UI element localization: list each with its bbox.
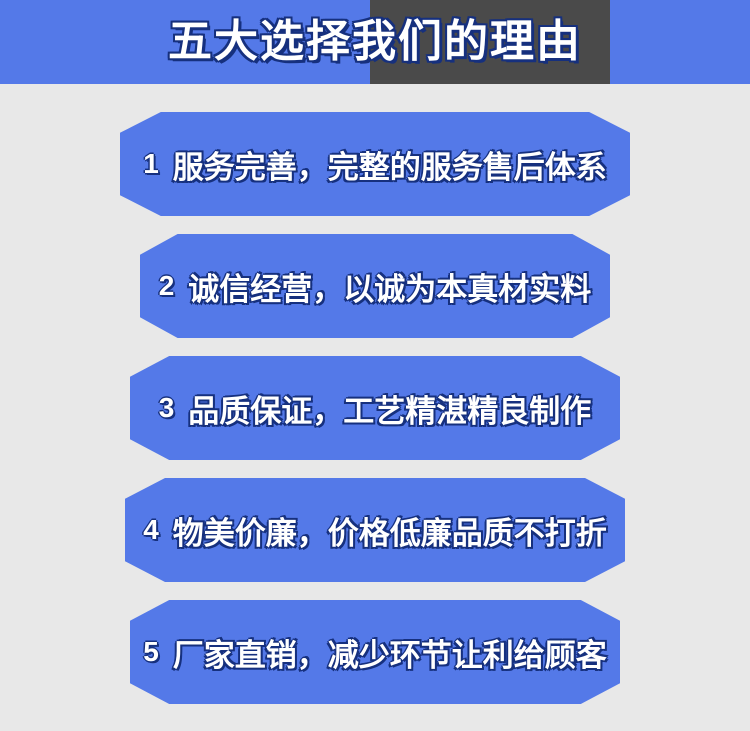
reason-number-1: 1 — [143, 148, 159, 180]
reason-banner-content-2: 2 诚信经营，以诚为本真材实料 — [145, 264, 606, 309]
reason-banner-3: 3 品质保证，工艺精湛精良制作 — [130, 356, 620, 460]
reason-banner-content-3: 3 品质保证，工艺精湛精良制作 — [145, 386, 606, 431]
reason-text-3: 品质保证，工艺精湛精良制作 — [188, 386, 591, 431]
reason-number-5: 5 — [143, 636, 159, 668]
reason-text-2: 诚信经营，以诚为本真材实料 — [188, 264, 591, 309]
reason-number-2: 2 — [159, 270, 175, 302]
reason-banner-5: 5 厂家直销，减少环节让利给顾客 — [130, 600, 620, 704]
reason-number-4: 4 — [143, 514, 159, 546]
list-item: 4 物美价廉，价格低廉品质不打折 — [0, 470, 750, 592]
reason-text-4: 物美价廉，价格低廉品质不打折 — [173, 508, 607, 553]
reason-banner-4: 4 物美价廉，价格低廉品质不打折 — [125, 478, 625, 582]
page-title: 五大选择我们的理由 — [0, 0, 750, 84]
reason-text-1: 服务完善，完整的服务售后体系 — [173, 142, 607, 187]
list-item: 1 服务完善，完整的服务售后体系 — [0, 104, 750, 226]
list-item: 3 品质保证，工艺精湛精良制作 — [0, 348, 750, 470]
list-item: 2 诚信经营，以诚为本真材实料 — [0, 226, 750, 348]
reason-list: 1 服务完善，完整的服务售后体系 2 诚信经营，以诚为本真材实料 3 品质保证，… — [0, 84, 750, 714]
reason-banner-content-4: 4 物美价廉，价格低廉品质不打折 — [129, 508, 621, 553]
poster-header: 五大选择我们的理由 — [0, 0, 750, 84]
reason-banner-content-1: 1 服务完善，完整的服务售后体系 — [129, 142, 621, 187]
reason-banner-content-5: 5 厂家直销，减少环节让利给顾客 — [129, 630, 621, 675]
reason-number-3: 3 — [159, 392, 175, 424]
list-item: 5 厂家直销，减少环节让利给顾客 — [0, 592, 750, 714]
reason-banner-2: 2 诚信经营，以诚为本真材实料 — [140, 234, 610, 338]
promo-poster: 五大选择我们的理由 1 服务完善，完整的服务售后体系 2 诚信经营，以诚为本真材… — [0, 0, 750, 731]
reason-banner-1: 1 服务完善，完整的服务售后体系 — [120, 112, 630, 216]
reason-text-5: 厂家直销，减少环节让利给顾客 — [173, 630, 607, 675]
